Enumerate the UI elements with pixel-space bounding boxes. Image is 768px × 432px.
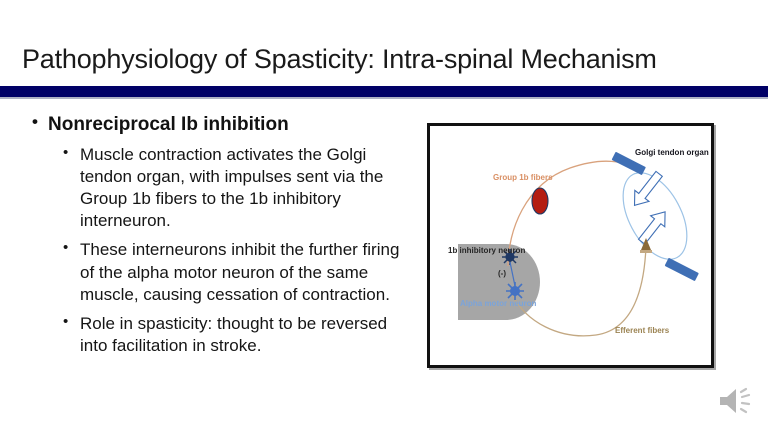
body-content: • Nonreciprocal Ib inhibition • Muscle c… <box>26 112 408 364</box>
list-item: • These interneurons inhibit the further… <box>56 239 408 305</box>
list-item-text: Role in spasticity: thought to be revers… <box>80 314 387 355</box>
bullet-glyph: • <box>63 143 68 163</box>
label-golgi-tendon-organ: Golgi tendon organ <box>635 148 709 158</box>
label-minus-sign: (-) <box>498 269 506 279</box>
list-item: • Role in spasticity: thought to be reve… <box>56 313 408 357</box>
label-group-1b-fibers: Group 1b fibers <box>493 173 553 183</box>
list-item-text: Muscle contraction activates the Golgi t… <box>80 145 383 230</box>
title-divider-bar <box>0 86 768 97</box>
diagram-figure: Group 1b fibers Golgi tendon organ 1b in… <box>427 123 714 368</box>
bullet-glyph: • <box>63 312 68 332</box>
bullet-heading-text: Nonreciprocal Ib inhibition <box>48 114 289 135</box>
list-item: • Muscle contraction activates the Golgi… <box>56 144 408 232</box>
list-item-text: These interneurons inhibit the further f… <box>80 240 399 303</box>
page-title: Pathophysiology of Spasticity: Intra-spi… <box>22 44 746 75</box>
bullet-glyph: • <box>32 111 38 133</box>
label-1b-inhibitory-neuron: 1b inhibitory neuron <box>448 246 512 256</box>
title-divider-shadow <box>0 97 768 99</box>
stretch-arrow-icon <box>635 206 673 247</box>
bullet-glyph: • <box>63 238 68 258</box>
speaker-icon[interactable] <box>716 383 756 419</box>
tendon-bar-icon <box>665 258 699 281</box>
synapse-marker-icon <box>532 188 548 214</box>
label-alpha-motor-neuron: Alpha motor neuron <box>460 299 534 309</box>
bullet-heading: • Nonreciprocal Ib inhibition <box>26 112 408 137</box>
label-efferent-fibers: Efferent fibers <box>615 326 669 336</box>
